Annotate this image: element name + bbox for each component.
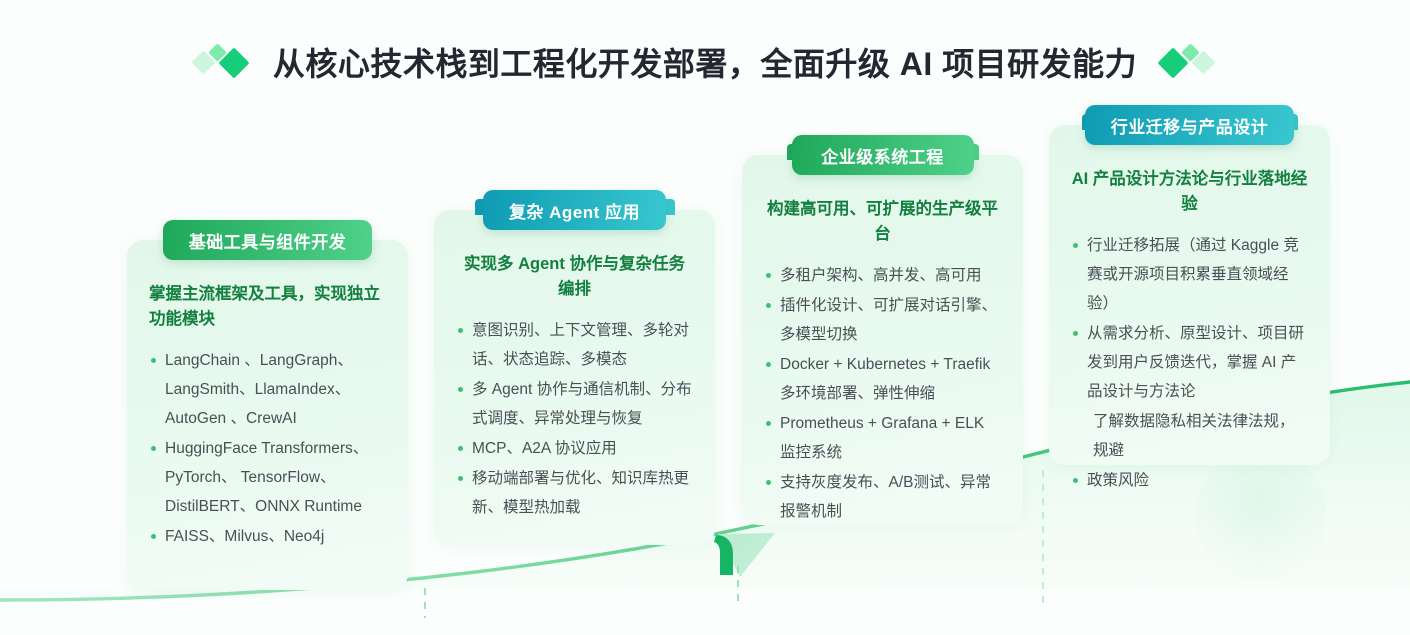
- list-item: 多 Agent 协作与通信机制、分布式调度、异常处理与恢复: [456, 375, 693, 433]
- page-title: 从核心技术栈到工程化开发部署，全面升级 AI 项目研发能力: [273, 39, 1137, 85]
- card-body: 掌握主流框架及工具，实现独立功能模块 LangChain 、LangGraph、…: [127, 240, 408, 572]
- card-body: 构建高可用、可扩展的生产级平台 多租户架构、高并发、高可用 插件化设计、可扩展对…: [742, 155, 1023, 547]
- card-bullet-list: 多租户架构、高并发、高可用 插件化设计、可扩展对话引擎、多模型切换 Docker…: [764, 261, 1001, 526]
- list-item: Prometheus + Grafana + ELK 监控系统: [764, 409, 1001, 467]
- list-item: LangChain 、LangGraph、LangSmith、LlamaInde…: [149, 346, 386, 433]
- card-subtitle: 掌握主流框架及工具，实现独立功能模块: [149, 282, 386, 332]
- list-item: 政策风险: [1071, 466, 1308, 495]
- left-diamond-decoration: [195, 44, 251, 80]
- card-subtitle: 实现多 Agent 协作与复杂任务编排: [456, 252, 693, 302]
- card-foundation-tools[interactable]: 基础工具与组件开发 掌握主流框架及工具，实现独立功能模块 LangChain 、…: [127, 240, 408, 590]
- card-body: 实现多 Agent 协作与复杂任务编排 意图识别、上下文管理、多轮对话、状态追踪…: [434, 210, 715, 543]
- list-item: 意图识别、上下文管理、多轮对话、状态追踪、多模态: [456, 316, 693, 374]
- card-complex-agent[interactable]: 复杂 Agent 应用 实现多 Agent 协作与复杂任务编排 意图识别、上下文…: [434, 210, 715, 545]
- list-item: FAISS、Milvus、Neo4j: [149, 522, 386, 551]
- list-item: MCP、A2A 协议应用: [456, 434, 693, 463]
- card-bullet-list: LangChain 、LangGraph、LangSmith、LlamaInde…: [149, 346, 386, 551]
- card-bullet-list: 行业迁移拓展（通过 Kaggle 竞赛或开源项目积累垂直领域经验） 从需求分析、…: [1071, 231, 1308, 495]
- list-item: 插件化设计、可扩展对话引擎、多模型切换: [764, 291, 1001, 349]
- list-item: 移动端部署与优化、知识库热更新、模型热加载: [456, 464, 693, 522]
- marker-flag-icon: [714, 535, 733, 575]
- title-row: 从核心技术栈到工程化开发部署，全面升级 AI 项目研发能力: [0, 34, 1410, 90]
- list-item: 多租户架构、高并发、高可用: [764, 261, 1001, 290]
- card-bullet-list: 意图识别、上下文管理、多轮对话、状态追踪、多模态 多 Agent 协作与通信机制…: [456, 316, 693, 522]
- list-item: 了解数据隐私相关法律法规，规避: [1071, 407, 1308, 465]
- card-industry-migration[interactable]: 行业迁移与产品设计 AI 产品设计方法论与行业落地经验 行业迁移拓展（通过 Ka…: [1049, 125, 1330, 465]
- list-item: HuggingFace Transformers、PyTorch、 Tensor…: [149, 434, 386, 521]
- list-item: Docker + Kubernetes + Traefik 多环境部署、弹性伸缩: [764, 350, 1001, 408]
- right-diamond-decoration: [1159, 44, 1215, 80]
- list-item: 行业迁移拓展（通过 Kaggle 竞赛或开源项目积累垂直领域经验）: [1071, 231, 1308, 318]
- card-enterprise-engineering[interactable]: 企业级系统工程 构建高可用、可扩展的生产级平台 多租户架构、高并发、高可用 插件…: [742, 155, 1023, 525]
- card-subtitle: AI 产品设计方法论与行业落地经验: [1071, 167, 1308, 217]
- list-item: 支持灰度发布、A/B测试、异常报警机制: [764, 468, 1001, 526]
- list-item: 从需求分析、原型设计、项目研发到用户反馈迭代，掌握 AI 产品设计与方法论: [1071, 319, 1308, 406]
- card-body: AI 产品设计方法论与行业落地经验 行业迁移拓展（通过 Kaggle 竞赛或开源…: [1049, 125, 1330, 516]
- card-subtitle: 构建高可用、可扩展的生产级平台: [764, 197, 1001, 247]
